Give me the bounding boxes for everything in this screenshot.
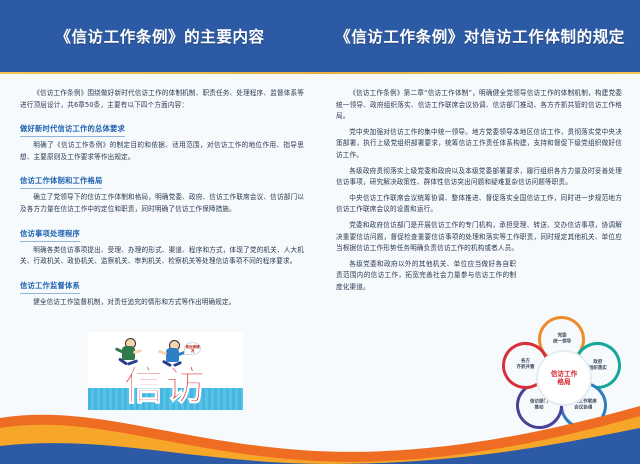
page-title-right: 《信访工作条例》对信访工作体制的规定 [320, 0, 640, 72]
page-title-left: 《信访工作条例》的主要内容 [0, 0, 320, 72]
bottom-wave-decoration [0, 394, 640, 464]
section-heading-system-and-layout: 信访工作体制和工作格局 [20, 175, 102, 189]
section-heading-overall-requirements: 做好新时代信访工作的总体要求 [20, 123, 125, 137]
section-heading-supervision-system: 信访工作监督体系 [20, 280, 80, 294]
right-paragraph-5: 党委和政府信访部门是开展信访工作的专门机构，承担受理、转送、交办信访事项，协调解… [336, 220, 622, 255]
header-band: 《信访工作条例》的主要内容 《信访工作条例》对信访工作体制的规定 [0, 0, 640, 74]
petal-2-line-2: 组织落实 [589, 366, 607, 371]
left-intro-paragraph: 《信访工作条例》围绕做好新时代信访工作的体制机制、职责任务、处理程序、监督体系等… [20, 88, 304, 111]
poster-canvas: 《信访工作条例》的主要内容 《信访工作条例》对信访工作体制的规定 《信访工作条例… [0, 0, 640, 464]
right-paragraph-4: 中央信访工作联席会议统筹协调、整体推进、督促落实全国信访工作，同时进一步规范地方… [336, 193, 622, 216]
right-paragraph-1: 《信访工作条例》第二章“信访工作体制”，明确健全党领导信访工作的体制机制，构建党… [336, 88, 622, 123]
left-section-4-heading-wrap: 信访工作监督体系 [20, 273, 304, 296]
petal-5-line-2: 齐抓共管 [517, 366, 535, 371]
diagram-center-line-1: 信访工作 [551, 370, 577, 378]
left-section-1-heading-wrap: 做好新时代信访工作的总体要求 [20, 116, 304, 139]
right-paragraph-6: 各级党委和政府以外的其他机关、单位应当做好各自职责范围内的信访工作，拓宽完善社会… [336, 259, 516, 294]
left-section-2-heading-wrap: 信访工作体制和工作格局 [20, 168, 304, 191]
petal-1-line-1: 党委 [557, 334, 566, 339]
right-paragraph-3: 各级政府贯彻落实上级党委和政府以及本级党委部署要求，履行组织各方力量及时妥善处理… [336, 166, 622, 189]
section-heading-handling-procedure: 信访事项处理程序 [20, 228, 80, 242]
petal-2-line-1: 政府 [593, 360, 602, 365]
petal-1-line-2: 统一领导 [553, 340, 571, 345]
section-body-system-and-layout: 确立了党领导下的信访工作体制和格局，明确党委、政府、信访工作联席会议、信访部门以… [20, 192, 304, 215]
left-section-3-heading-wrap: 信访事项处理程序 [20, 221, 304, 244]
section-body-overall-requirements: 明确了《信访工作条例》的制定目的和依据、适用范围，对信访工作的地位作用、指导思想… [20, 140, 304, 163]
section-body-handling-procedure: 明确各类信访事项提出、受理、办理的形式、渠道、程序和方式，体现了党的机关、人大机… [20, 245, 304, 268]
speech-bubble: 来反映情况 [184, 342, 201, 355]
section-body-supervision-system: 健全信访工作监督机制，对责任追究的情形和方式等作出明确规定。 [20, 297, 304, 309]
diagram-center-label: 信访工作 格局 [536, 350, 592, 406]
right-paragraph-2: 党中央加强对信访工作的集中统一领导。地方党委领导本地区信访工作，贯彻落实党中央决… [336, 127, 622, 162]
diagram-center-line-2: 格局 [557, 378, 570, 386]
